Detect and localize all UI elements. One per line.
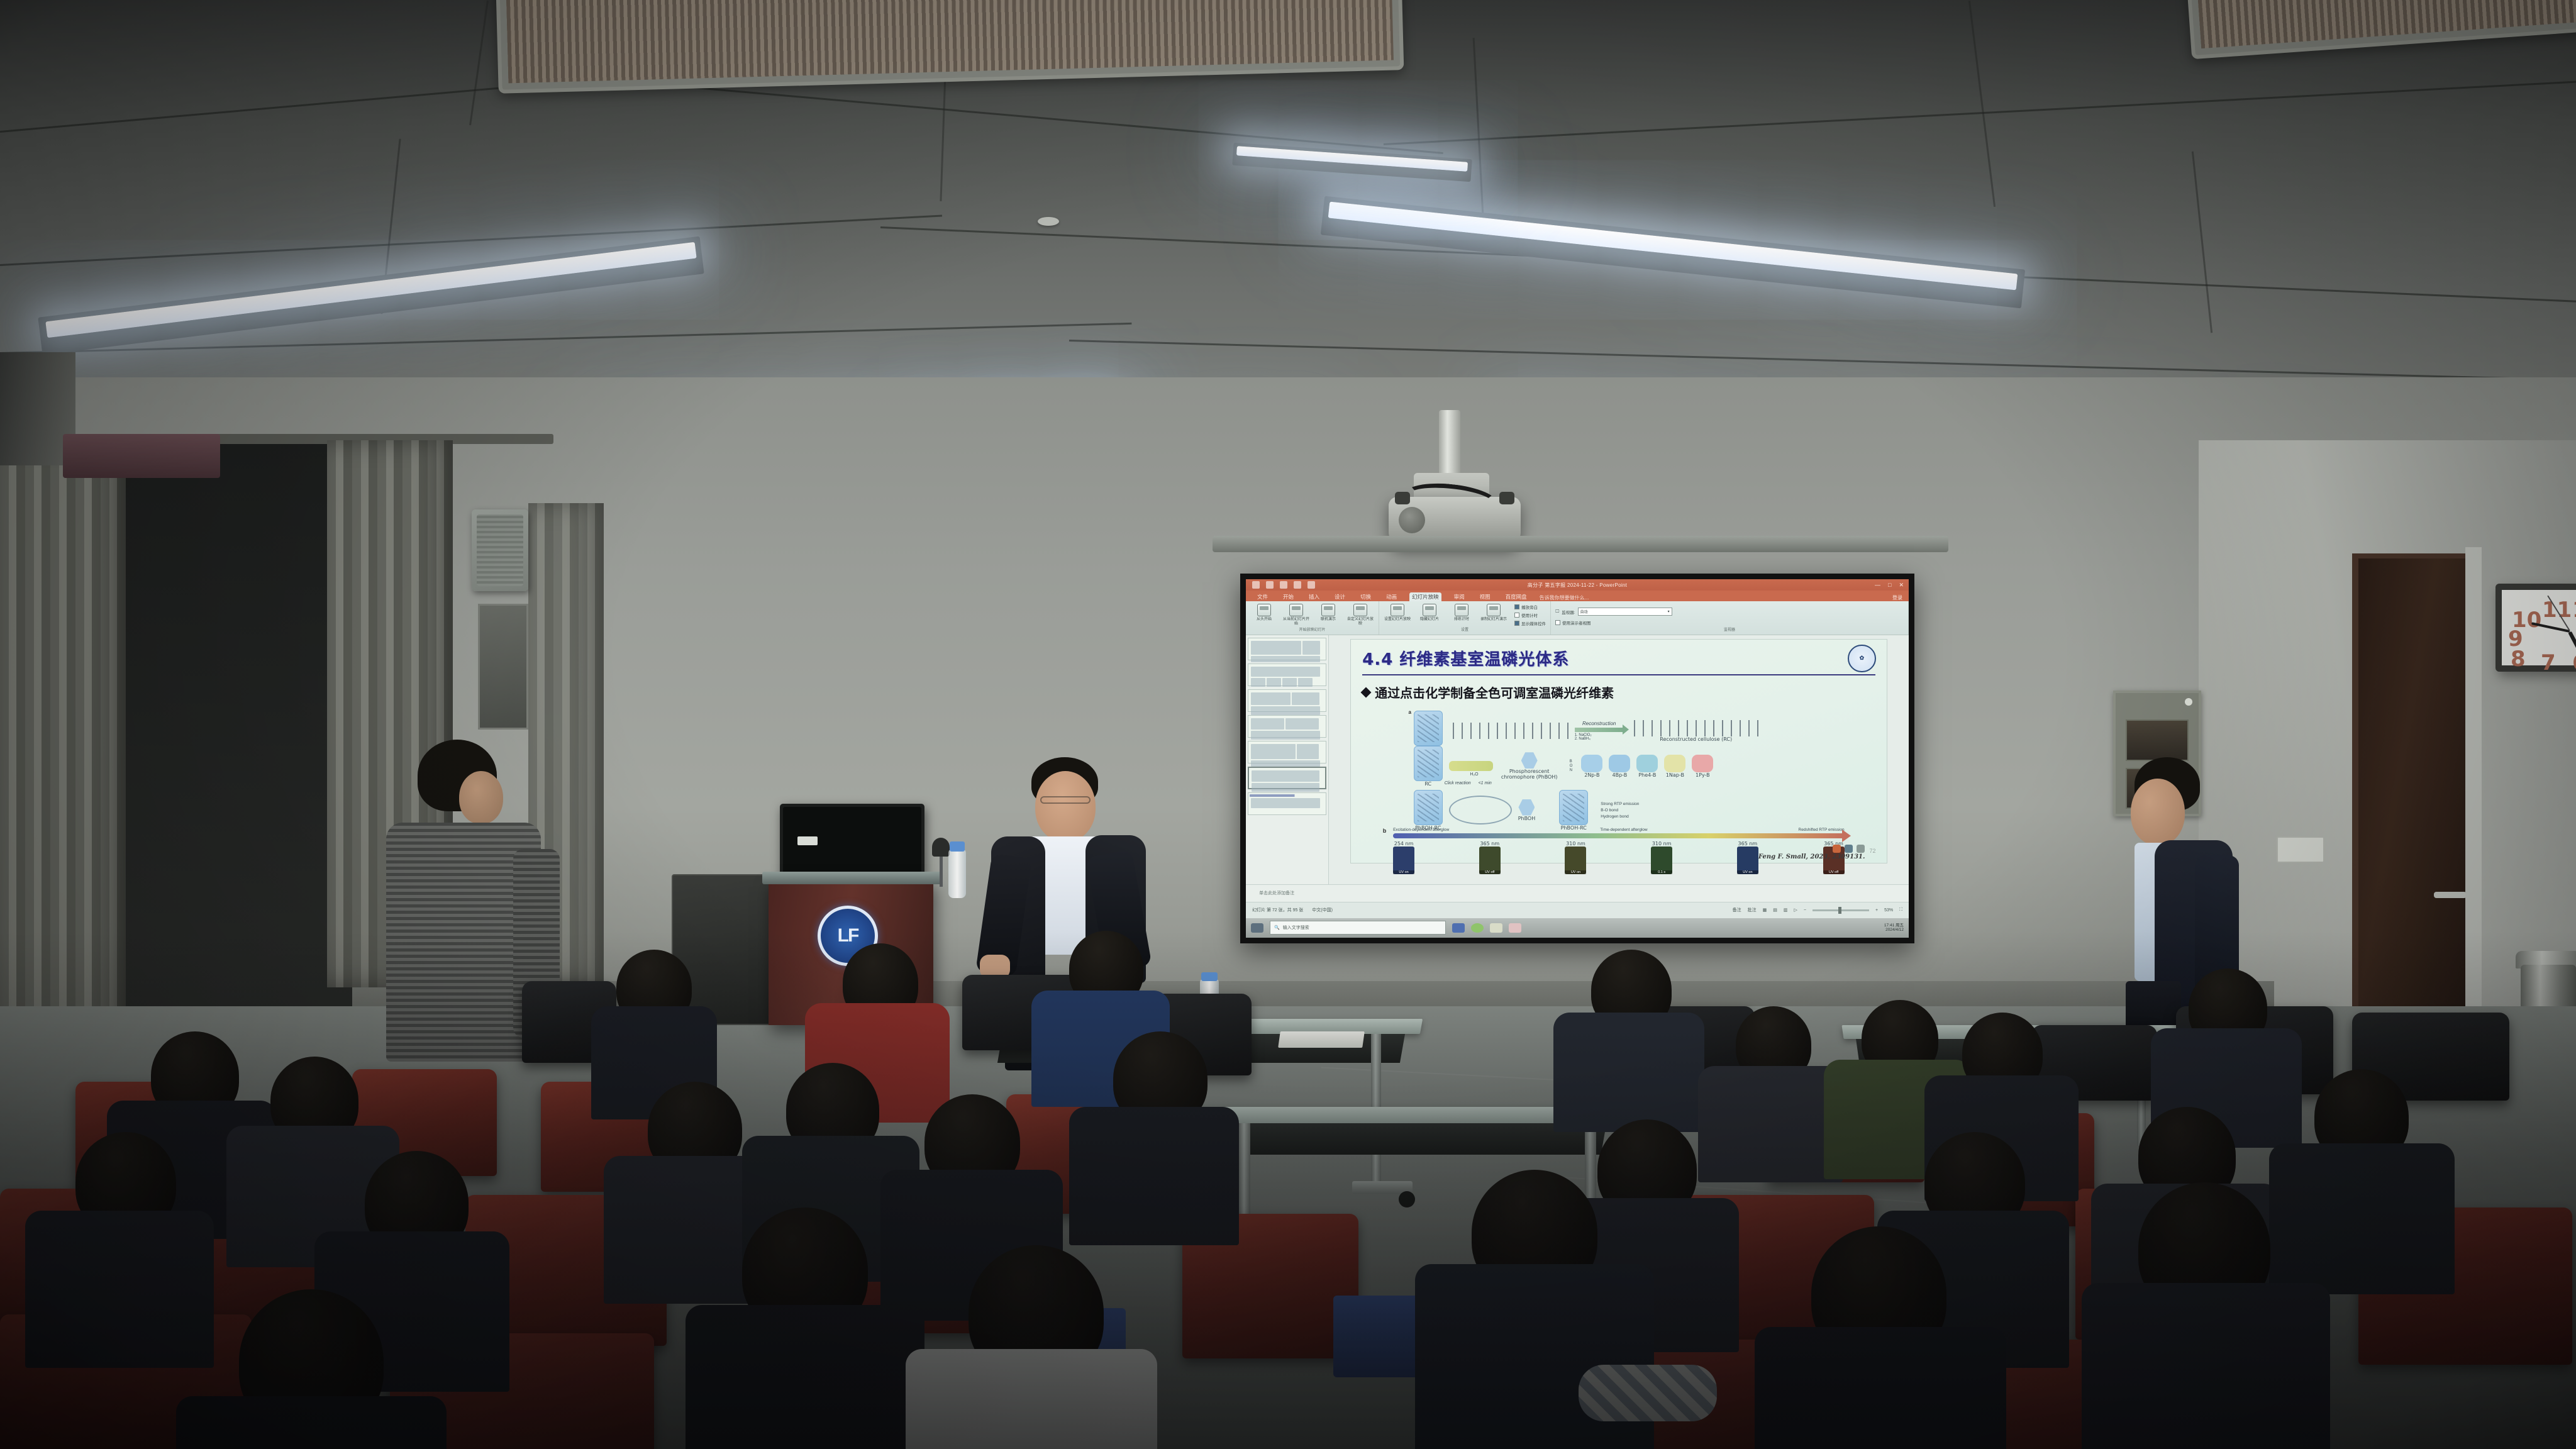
fig-label-rtp-emission: Strong RTP emission: [1601, 802, 1639, 806]
btn-record-slideshow[interactable]: 录制幻灯片演示: [1480, 604, 1507, 622]
slide-stage: ✿ 4.4 纤维素基室温磷光体系 通过点击化学制备全色可调室温磷光纤维素: [1329, 635, 1909, 884]
presenter-glasses-icon: [1040, 796, 1091, 804]
slide-thumbnail[interactable]: [1248, 689, 1326, 712]
group-name-setup: 设置: [1461, 626, 1468, 632]
afterglow-timeline-icon: [1393, 833, 1845, 838]
ppt-body: ✿ 4.4 纤维素基室温磷光体系 通过点击化学制备全色可调室温磷光纤维素: [1246, 635, 1909, 884]
swatch-state-3: UV on: [1565, 870, 1586, 874]
taskbar-date: 2024/4/12: [1884, 928, 1904, 933]
ceiling-ac-unit: [496, 0, 1404, 94]
swatch-4: 0.1 s: [1651, 847, 1672, 874]
slide-thumbnail[interactable]: [1248, 741, 1326, 763]
audience-body: [25, 1211, 214, 1368]
swatch-label-3: 310 nm: [1566, 841, 1585, 847]
mol-1py-icon: [1692, 755, 1713, 772]
rc-block-icon: [1414, 746, 1443, 781]
presenter-head: [1035, 771, 1096, 841]
screen-housing: [1213, 536, 1948, 552]
custom-show-icon: [1353, 604, 1367, 616]
swatch-state-1: UV on: [1393, 870, 1414, 874]
maximize-button[interactable]: □: [1888, 582, 1891, 589]
ribbon-tab-bar[interactable]: 文件 开始 插入 设计 切换 动画 幻灯片放映 审阅 视图 百度网盘 告诉我你想…: [1246, 591, 1909, 601]
timeline-seg-2: Time-dependent afterglow: [1600, 828, 1647, 832]
group-name-start-slideshow: 开始放映幻灯片: [1299, 626, 1325, 632]
legend-B: B: [1570, 760, 1573, 763]
mol-phe4-icon: [1636, 755, 1658, 772]
sorter-view-icon[interactable]: ▤: [1773, 908, 1777, 913]
document-title: 高分子 第五字报 2024-11-22 - PowerPoint: [1246, 582, 1909, 589]
tab-review[interactable]: 审阅: [1452, 592, 1467, 601]
projection-screen: 高分子 第五字报 2024-11-22 - PowerPoint — □ ✕ 文…: [1240, 574, 1914, 943]
rehearse-timings-icon: [1455, 604, 1468, 616]
search-icon: 🔍: [1274, 925, 1280, 930]
fig-label-h2o: H₂O: [1470, 772, 1478, 777]
tab-home[interactable]: 开始: [1280, 592, 1296, 601]
swatch-label-1: 254 nm: [1394, 841, 1414, 847]
clock-numeral-6: 6: [2572, 650, 2576, 675]
minimize-button[interactable]: —: [1875, 582, 1880, 589]
zoom-slider[interactable]: [1813, 909, 1869, 911]
swatch-label-5: 365 nm: [1738, 841, 1758, 847]
tab-design[interactable]: 设计: [1332, 592, 1348, 601]
monitor-sticker: [797, 836, 818, 845]
notes-button[interactable]: 备注: [1733, 907, 1741, 913]
water-bottle-lectern: [948, 849, 966, 898]
taskbar-search-input[interactable]: 🔍 输入文字搜索: [1270, 921, 1446, 935]
water-bottle-table-cap: [1201, 972, 1218, 981]
ppt-titlebar: 高分子 第五字报 2024-11-22 - PowerPoint — □ ✕: [1246, 579, 1909, 591]
right-attendee-head: [2131, 779, 2185, 845]
audience-body: [1755, 1327, 2006, 1449]
slide-thumbnail[interactable]: [1248, 638, 1326, 660]
fig-label-hbond: Hydrogen bond: [1601, 814, 1639, 819]
checkbox-play-narrations[interactable]: 播放旁白: [1514, 604, 1546, 610]
phboh-hex-icon-2: [1518, 799, 1535, 816]
hide-slide-icon: [1423, 604, 1436, 616]
btn-present-online[interactable]: 联机演示: [1314, 604, 1342, 622]
slide-title: 4.4 纤维素基室温磷光体系: [1362, 647, 1875, 670]
room-door[interactable]: [2352, 553, 2472, 1031]
slide-thumbnail[interactable]: [1248, 663, 1326, 686]
slideshow-view-icon[interactable]: ▷: [1794, 908, 1797, 913]
normal-view-icon[interactable]: ▦: [1763, 908, 1767, 913]
ribbon-group-setup: 设置幻灯片放映 隐藏幻灯片 排练计时: [1379, 601, 1551, 635]
screen-surface: 高分子 第五字报 2024-11-22 - PowerPoint — □ ✕ 文…: [1246, 579, 1909, 938]
chevron-down-icon[interactable]: ▾: [1668, 609, 1670, 614]
swatch-5: UV on: [1737, 847, 1758, 874]
checkbox-show-media-controls-box[interactable]: [1514, 621, 1519, 626]
rc-chain-icon: [1630, 720, 1762, 736]
btn-setup-show[interactable]: 设置幻灯片放映: [1384, 604, 1411, 622]
monitor-selector[interactable]: 🖵 监视器: 自动 ▾: [1555, 608, 1672, 616]
language-indicator[interactable]: 中文(中国): [1312, 907, 1333, 913]
slideshow-current-icon: [1289, 604, 1303, 616]
panel-a-label: a: [1409, 709, 1411, 715]
fig-label-phe4b: Phe4-B: [1638, 772, 1656, 778]
ribbon[interactable]: 从头开始 从当前幻灯片开始 联机演示: [1246, 601, 1909, 635]
fig-label-2npb: 2Np-B: [1584, 772, 1599, 778]
polymer-chain-icon: [1449, 723, 1568, 739]
slide-page-number: 72: [1870, 848, 1876, 854]
door-handle[interactable]: [2434, 892, 2467, 898]
wechat-icon: [1833, 845, 1841, 853]
slide-thumbnail-selected[interactable]: [1248, 767, 1326, 789]
mol-2np-icon: [1581, 755, 1602, 772]
notes-placeholder: 单击此处添加备注: [1259, 890, 1294, 896]
clock-numeral-12: 12: [2572, 597, 2576, 623]
tab-animations[interactable]: 动画: [1384, 592, 1399, 601]
yellow-flow-icon: [1449, 761, 1493, 771]
btn-hide-slide[interactable]: 隐藏幻灯片: [1416, 604, 1443, 622]
swatch-3: UV on: [1565, 847, 1586, 874]
mol-1nap-icon: [1664, 755, 1685, 772]
fig-label-phboh: PhBOH: [1518, 816, 1536, 821]
btn-custom-show[interactable]: 自定义幻灯片放映: [1346, 604, 1374, 626]
panel-b-label: b: [1383, 828, 1387, 834]
fig-label-rc-short: RC: [1424, 781, 1431, 787]
audience-body: [906, 1349, 1157, 1449]
reading-view-icon[interactable]: ▥: [1784, 908, 1788, 913]
fig-label-1napb: 1Nap-B: [1666, 772, 1684, 778]
browser-icon[interactable]: [1471, 923, 1484, 933]
title-divider: [1362, 674, 1875, 675]
close-button[interactable]: ✕: [1899, 582, 1904, 589]
fig-label-bo-bond: B-O bond: [1601, 808, 1639, 813]
lectern-top: [762, 872, 942, 884]
checkbox-play-narrations-box[interactable]: [1514, 604, 1519, 609]
projector-lens: [1399, 507, 1425, 533]
current-slide: ✿ 4.4 纤维素基室温磷光体系 通过点击化学制备全色可调室温磷光纤维素: [1350, 639, 1887, 863]
wall-speaker-left: [472, 509, 528, 591]
swatch-label-4: 310 nm: [1652, 841, 1672, 847]
slide-corner-icons: [1833, 845, 1865, 853]
monitor-icon: 🖵: [1555, 609, 1559, 614]
fig-label-1pyb: 1Py-B: [1696, 772, 1710, 778]
taskview-icon[interactable]: [1452, 923, 1465, 933]
fig-label-chromophore: Phosphorescent chromophore (PhBOH): [1499, 769, 1560, 780]
door-jamb: [2465, 547, 2482, 1038]
swatch-2: UV off: [1479, 847, 1501, 874]
audience-body: [686, 1305, 924, 1449]
ceiling-ac-unit-right: [2186, 0, 2576, 59]
fig-label-time: <1 min: [1479, 781, 1492, 786]
record-slideshow-icon: [1487, 604, 1501, 616]
zoom-out-icon[interactable]: −: [1804, 908, 1806, 913]
audience-scarf: [1579, 1365, 1717, 1421]
curtain-left[interactable]: [0, 440, 126, 1038]
powerpoint-taskbar-icon[interactable]: [1509, 923, 1521, 933]
mol-4bp-icon: [1609, 755, 1630, 772]
slide-thumbnail[interactable]: [1248, 792, 1326, 815]
monitor-combo-box[interactable]: 自动 ▾: [1578, 608, 1672, 616]
tab-transitions[interactable]: 切换: [1358, 592, 1374, 601]
globe-icon: [1845, 845, 1853, 853]
account-label[interactable]: 登录: [1892, 594, 1902, 601]
slide-citation: Feng F. Small, 2023, 2309131.: [1758, 853, 1865, 860]
zoom-level: 53%: [1884, 908, 1893, 913]
tab-baidu-netdisk[interactable]: 百度网盘: [1503, 592, 1529, 601]
left-attendee-head: [459, 771, 503, 824]
timeline-seg-3: Redshifted RTP emission: [1799, 828, 1845, 832]
btn-rehearse-timings[interactable]: 排练计时: [1448, 604, 1475, 622]
status-bar: 幻灯片 第 72 张，共 95 张 中文(中国) 备注 批注 ▦ ▤ ▥ ▷ −…: [1246, 902, 1909, 918]
diamond-bullet-icon: [1361, 687, 1372, 697]
audience-body: [1698, 1066, 1843, 1182]
wall-cabinet: [478, 604, 528, 730]
wall-clock: 10 11 12 9 8 7 6: [2495, 584, 2576, 672]
setup-show-icon: [1391, 604, 1404, 616]
taskbar-time: 17:41 周五: [1884, 923, 1904, 928]
start-button-icon[interactable]: [1251, 923, 1263, 933]
clock-numeral-7: 7: [2541, 650, 2556, 675]
fig-label-reconstruction: Reconstruction: [1582, 721, 1616, 726]
tab-insert[interactable]: 插入: [1306, 592, 1322, 601]
lectern-emblem-text: LF: [838, 925, 858, 947]
swatch-1: UV on: [1393, 847, 1414, 874]
audience-body: [2082, 1283, 2330, 1449]
legend-O: O: [1570, 764, 1573, 768]
zoom-in-icon[interactable]: +: [1875, 908, 1878, 913]
slide-bullet-text: 通过点击化学制备全色可调室温磷光纤维素: [1375, 683, 1614, 701]
taskbar-clock[interactable]: 17:41 周五 2024/4/12: [1884, 923, 1904, 933]
tell-me-box[interactable]: 告诉我你想要做什么...: [1540, 594, 1589, 601]
checkbox-use-timings[interactable]: 使用计时: [1514, 612, 1546, 618]
windows-taskbar[interactable]: 🔍 输入文字搜索 17:41 周五 2024/4/12: [1246, 918, 1909, 938]
slide-thumbnail-panel[interactable]: [1246, 635, 1329, 884]
audience-body: [1069, 1107, 1239, 1245]
university-logo-icon: ✿: [1848, 645, 1875, 672]
fit-slide-icon[interactable]: ⛶: [1899, 908, 1902, 913]
fig-step-2: 2. NaBH₄: [1575, 737, 1624, 741]
swatch-state-4: 0.1 s: [1651, 870, 1672, 874]
swatch-label-2: 365 nm: [1480, 841, 1499, 847]
btn-from-current[interactable]: 从当前幻灯片开始: [1282, 604, 1310, 626]
curtain-valance: [63, 434, 220, 478]
slideshow-start-icon: [1257, 604, 1271, 616]
phboh-rc-block-icon-2: [1559, 790, 1588, 825]
audience-body: [2269, 1143, 2455, 1294]
legend-N: N: [1570, 769, 1573, 772]
slide-bullet-line: 通过点击化学制备全色可调室温磷光纤维素: [1362, 683, 1875, 701]
window-buttons[interactable]: — □ ✕: [1875, 582, 1904, 589]
cellulose-block-icon: [1414, 711, 1443, 746]
btn-from-beginning[interactable]: 从头开始: [1250, 604, 1278, 622]
slide-indicator: 幻灯片 第 72 张，共 95 张: [1252, 907, 1303, 913]
search-placeholder: 输入文字搜索: [1283, 924, 1309, 931]
phboh-hex-icon: [1521, 752, 1538, 769]
microphone: [932, 838, 950, 857]
tab-file[interactable]: 文件: [1255, 592, 1270, 601]
fig-label-4bpb: 4Bp-B: [1612, 772, 1627, 778]
ribbon-group-start-slideshow: 从头开始 从当前幻灯片开始 联机演示: [1246, 601, 1379, 635]
panel-indicator-led: [2185, 698, 2192, 706]
audience-body: [1553, 1013, 1704, 1132]
tab-view[interactable]: 视图: [1477, 592, 1493, 601]
notes-pane[interactable]: 单击此处添加备注: [1246, 884, 1909, 902]
checkbox-show-media-controls[interactable]: 显示媒体控件: [1514, 620, 1546, 626]
present-online-icon: [1321, 604, 1335, 616]
timeline-seg-1: Excitation-dependent afterglow: [1393, 828, 1449, 832]
share-icon: [1857, 845, 1865, 853]
ribbon-group-monitors: 🖵 监视器: 自动 ▾ 使用演示者视图: [1551, 601, 1909, 635]
swatch-state-2: UV off: [1479, 870, 1501, 874]
water-bottle-cap: [950, 841, 965, 852]
lecture-hall-photo: 10 11 12 9 8 7 6: [0, 0, 2576, 1449]
checkbox-use-timings-box[interactable]: [1514, 613, 1519, 618]
swatch-state-6: UV off: [1823, 870, 1845, 874]
fig-label-rc: Reconstructed cellulose (RC): [1660, 736, 1732, 742]
open-notebook: [1278, 1031, 1365, 1048]
group-name-monitors: 监视器: [1724, 626, 1735, 632]
checkbox-presenter-view-box[interactable]: [1555, 620, 1560, 625]
slide-figure: Cellulose Reconstruction 1. NaClO₂ 2.: [1362, 708, 1875, 854]
tab-slideshow[interactable]: 幻灯片放映: [1409, 592, 1441, 601]
smoke-detector: [1038, 217, 1059, 226]
clock-numeral-8: 8: [2511, 647, 2526, 672]
phboh-rc-block-icon: [1414, 790, 1443, 825]
swatch-state-5: UV on: [1737, 870, 1758, 874]
power-outlet[interactable]: [2277, 836, 2324, 863]
comments-button[interactable]: 批注: [1748, 907, 1757, 913]
click-circle-icon: [1449, 796, 1512, 824]
audience-body: [176, 1396, 447, 1449]
explorer-icon[interactable]: [1490, 923, 1502, 933]
checkbox-presenter-view[interactable]: 使用演示者视图: [1555, 619, 1672, 626]
powerpoint-window: 高分子 第五字报 2024-11-22 - PowerPoint — □ ✕ 文…: [1246, 579, 1909, 938]
fig-label-click: Click reaction: [1445, 781, 1471, 786]
reaction-arrow-icon: [1575, 728, 1624, 732]
slide-thumbnail[interactable]: [1248, 715, 1326, 738]
